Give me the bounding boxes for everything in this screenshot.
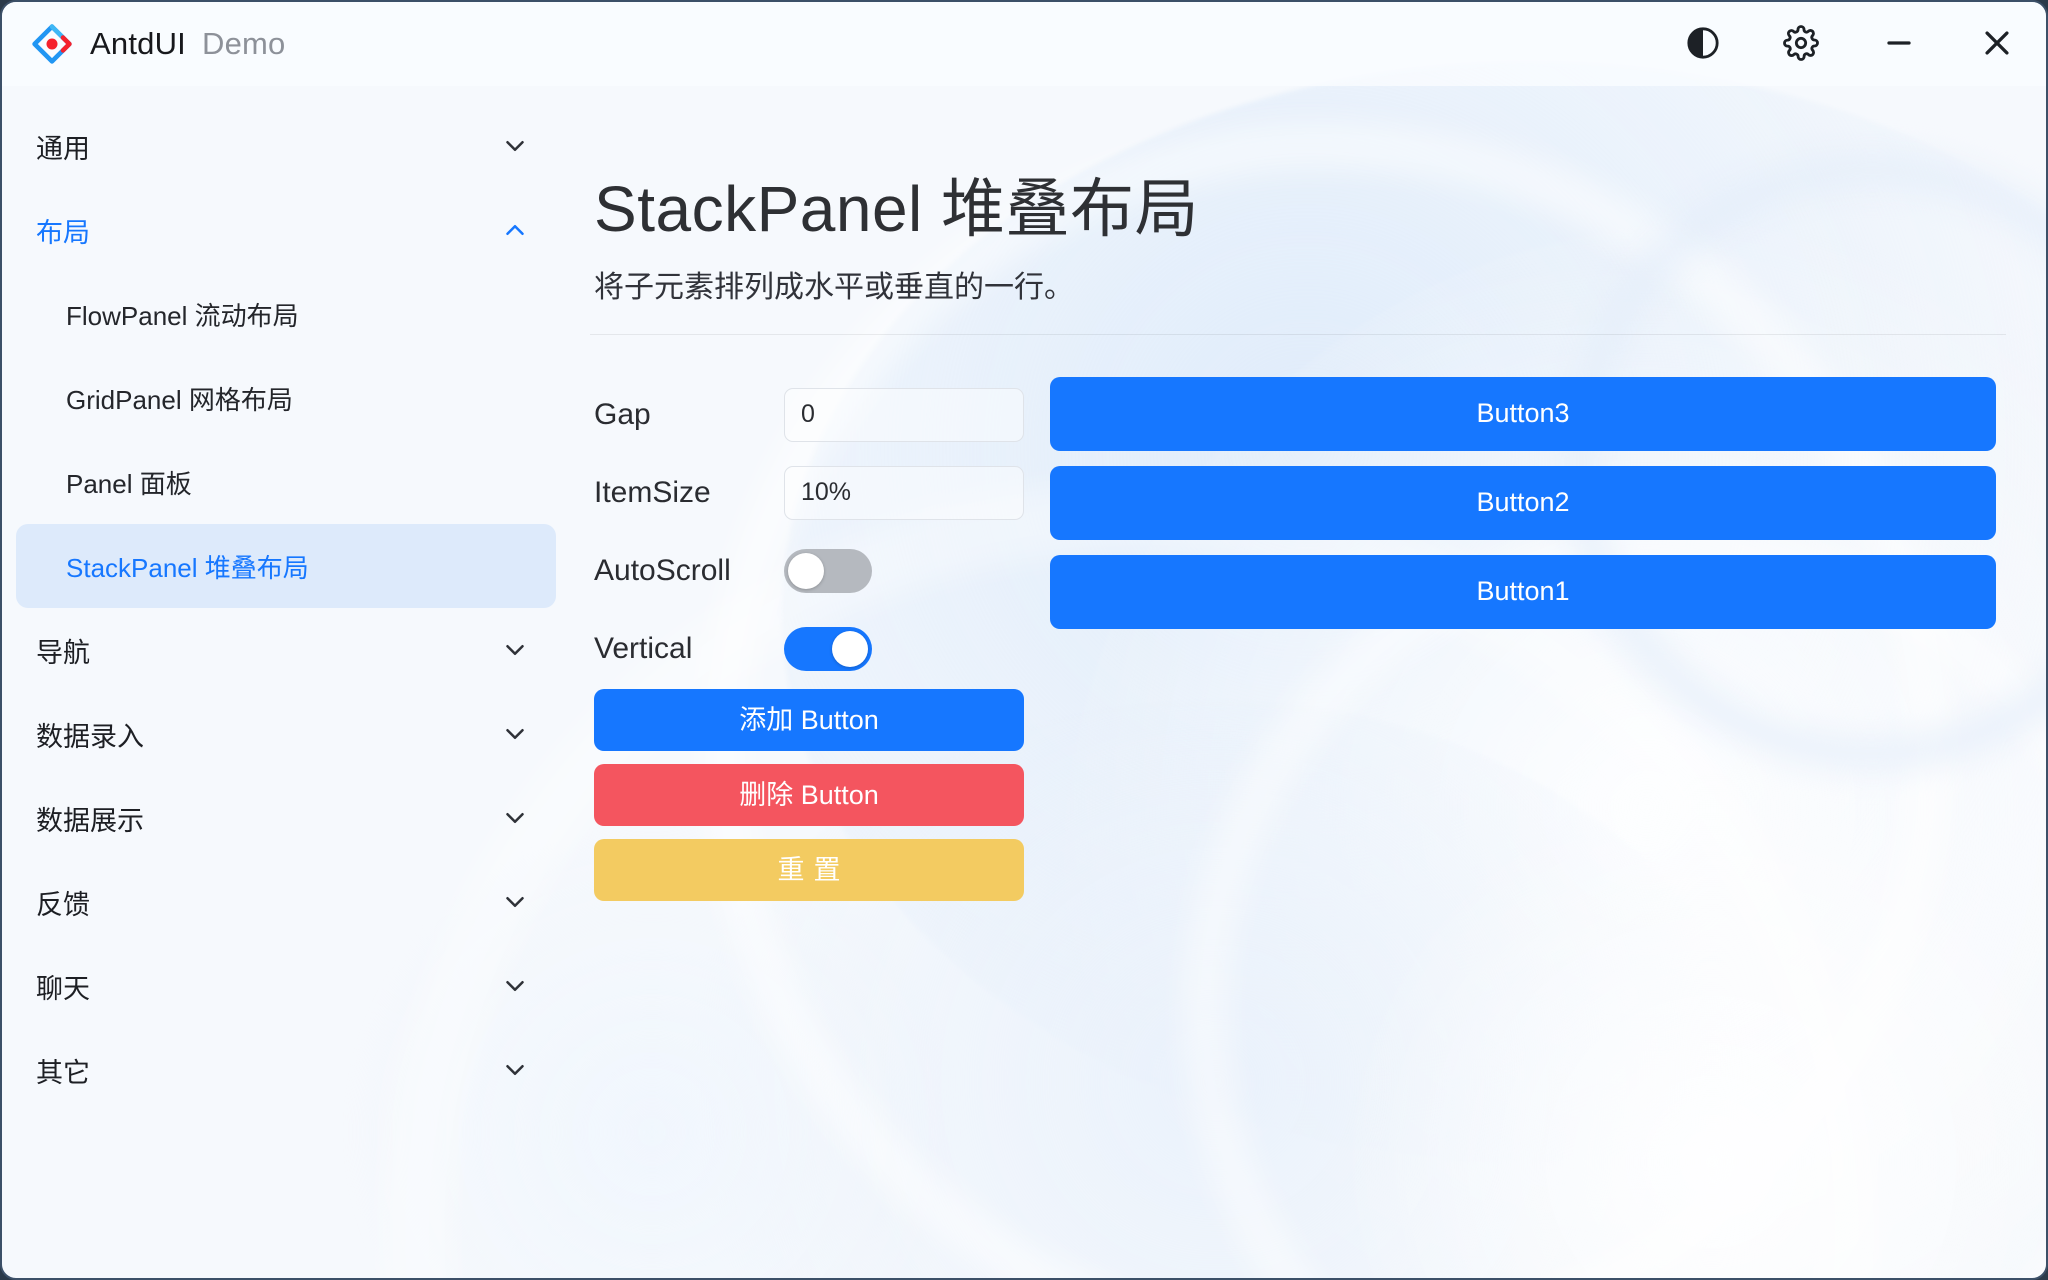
app-suffix: Demo	[202, 26, 286, 62]
minimize-button[interactable]	[1850, 2, 1948, 86]
page-description: 将子元素排列成水平或垂直的一行。	[594, 262, 2006, 306]
itemsize-input[interactable]: 10%	[784, 466, 1024, 520]
sidebar-group-label: 通用	[36, 127, 90, 166]
chevron-down-icon	[500, 971, 530, 1001]
theme-toggle-button[interactable]	[1654, 2, 1752, 86]
gap-input[interactable]: 0	[784, 388, 1024, 442]
vertical-label: Vertical	[594, 632, 784, 666]
gap-label: Gap	[594, 398, 784, 432]
itemsize-label: ItemSize	[594, 476, 784, 510]
sidebar-group-label: 数据录入	[36, 715, 144, 754]
page-title: StackPanel 堆叠布局	[594, 174, 2006, 246]
sidebar-group-label: 导航	[36, 631, 90, 670]
sidebar-group-label: 布局	[36, 211, 90, 250]
sidebar-group-others[interactable]: 其它	[16, 1028, 556, 1112]
body: 通用 布局 FlowPanel 流动布局 GridPanel 网格布局 Pane…	[2, 86, 2046, 1278]
sidebar-item-stackpanel[interactable]: StackPanel 堆叠布局	[16, 524, 556, 608]
gap-field-row: Gap 0	[594, 377, 1024, 453]
sidebar-group-label: 其它	[36, 1051, 90, 1090]
antdui-diamond-logo-icon	[30, 22, 74, 66]
sidebar-item-gridpanel[interactable]: GridPanel 网格布局	[16, 356, 556, 440]
app-window: AntdUI Demo	[0, 0, 2048, 1280]
sidebar-item-flowpanel[interactable]: FlowPanel 流动布局	[16, 272, 556, 356]
sidebar-item-panel[interactable]: Panel 面板	[16, 440, 556, 524]
chevron-down-icon	[500, 131, 530, 161]
sidebar-group-general[interactable]: 通用	[16, 104, 556, 188]
main-content: StackPanel 堆叠布局 将子元素排列成水平或垂直的一行。 Gap 0 I…	[570, 86, 2046, 1278]
sidebar-group-layout[interactable]: 布局	[16, 188, 556, 272]
sidebar-group-label: 聊天	[36, 967, 90, 1006]
itemsize-field-row: ItemSize 10%	[594, 455, 1024, 531]
sidebar-item-label: GridPanel 网格布局	[66, 380, 293, 417]
sidebar-item-label: FlowPanel 流动布局	[66, 296, 299, 333]
chevron-up-icon	[500, 215, 530, 245]
window-controls	[1654, 2, 2046, 86]
sidebar-group-chat[interactable]: 聊天	[16, 944, 556, 1028]
app-name: AntdUI	[90, 26, 186, 62]
demo-area: Gap 0 ItemSize 10% AutoScroll	[582, 335, 2006, 914]
stack-button[interactable]: Button1	[1050, 555, 1996, 629]
sidebar-item-label: StackPanel 堆叠布局	[66, 548, 309, 585]
title-bar: AntdUI Demo	[2, 2, 2046, 86]
close-icon	[1980, 26, 2014, 63]
autoscroll-field-row: AutoScroll	[594, 533, 1024, 609]
half-circle-contrast-icon	[1686, 26, 1720, 63]
vertical-field-row: Vertical	[594, 611, 1024, 687]
page-header: StackPanel 堆叠布局 将子元素排列成水平或垂直的一行。	[582, 86, 2006, 306]
chevron-down-icon	[500, 635, 530, 665]
sidebar-group-data-display[interactable]: 数据展示	[16, 776, 556, 860]
reset-button[interactable]: 重置	[594, 839, 1024, 901]
minimize-icon	[1884, 28, 1914, 61]
toggle-knob	[788, 553, 824, 589]
sidebar-group-label: 反馈	[36, 883, 90, 922]
chevron-down-icon	[500, 803, 530, 833]
stack-button[interactable]: Button3	[1050, 377, 1996, 451]
chevron-down-icon	[500, 719, 530, 749]
settings-column: Gap 0 ItemSize 10% AutoScroll	[594, 377, 1024, 914]
settings-button[interactable]	[1752, 2, 1850, 86]
sidebar-group-data-entry[interactable]: 数据录入	[16, 692, 556, 776]
vertical-toggle[interactable]	[784, 627, 872, 671]
chevron-down-icon	[500, 887, 530, 917]
app-brand: AntdUI Demo	[30, 22, 285, 66]
sidebar-group-label: 数据展示	[36, 799, 144, 838]
stack-button[interactable]: Button2	[1050, 466, 1996, 540]
stackpanel-preview: Button3 Button2 Button1	[1050, 377, 2006, 914]
sidebar-item-label: Panel 面板	[66, 464, 192, 501]
gear-icon	[1783, 25, 1819, 64]
add-button-button[interactable]: 添加 Button	[594, 689, 1024, 751]
sidebar-group-navigation[interactable]: 导航	[16, 608, 556, 692]
sidebar: 通用 布局 FlowPanel 流动布局 GridPanel 网格布局 Pane…	[2, 86, 570, 1278]
close-button[interactable]	[1948, 2, 2046, 86]
toggle-knob	[832, 631, 868, 667]
autoscroll-toggle[interactable]	[784, 549, 872, 593]
sidebar-group-feedback[interactable]: 反馈	[16, 860, 556, 944]
chevron-down-icon	[500, 1055, 530, 1085]
autoscroll-label: AutoScroll	[594, 554, 784, 588]
remove-button-button[interactable]: 删除 Button	[594, 764, 1024, 826]
